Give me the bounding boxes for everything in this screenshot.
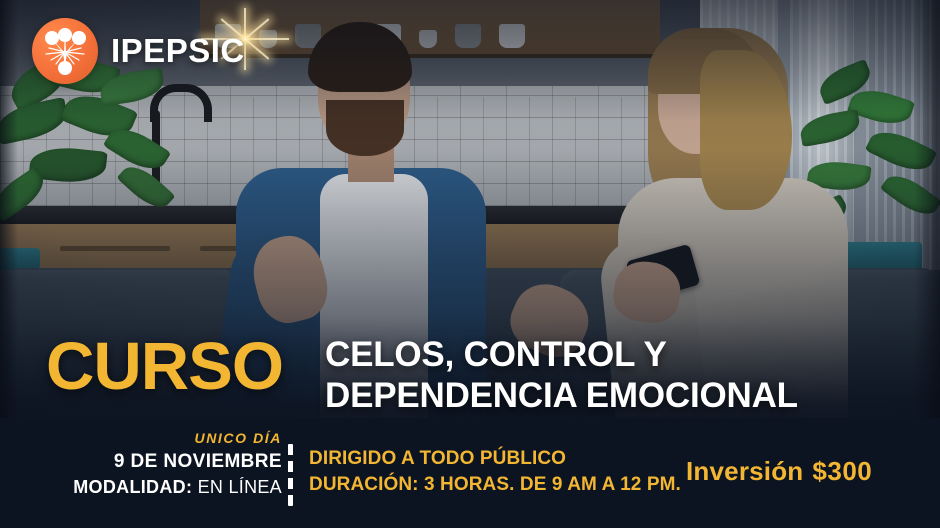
page-title: CELOS, CONTROL Y DEPENDENCIA EMOCIONAL (325, 335, 798, 417)
price-block: Inversión$300 (686, 458, 872, 484)
unique-day-label: UNICO DÍA (0, 430, 282, 448)
title-line-2: DEPENDENCIA EMOCIONAL (325, 376, 798, 417)
price-amount: $300 (812, 456, 872, 486)
modality-label: MODALIDAD: (73, 477, 192, 497)
duration-text: DURACIÓN: 3 HORAS. DE 9 AM A 12 PM. (309, 472, 681, 498)
ipepsic-neuron-icon (32, 18, 98, 84)
modality-value: EN LÍNEA (198, 477, 282, 497)
info-bar: UNICO DÍA 9 DE NOVIEMBRE MODALIDAD: EN L… (0, 418, 940, 528)
title-line-1: CELOS, CONTROL Y (325, 335, 798, 376)
brand-logo[interactable]: IPEPSIC (32, 18, 245, 84)
price-label: Inversión (686, 456, 803, 486)
brand-name: IPEPSIC (111, 32, 245, 70)
audience-text: DIRIGIDO A TODO PÚBLICO (309, 446, 681, 472)
right-vignette (914, 0, 940, 440)
left-vignette (0, 0, 18, 440)
audience-duration-column: DIRIGIDO A TODO PÚBLICO DURACIÓN: 3 HORA… (309, 446, 681, 498)
modality-row: MODALIDAD: EN LÍNEA (0, 475, 282, 500)
dashed-vertical-divider-icon (288, 444, 293, 506)
date-modality-column: UNICO DÍA 9 DE NOVIEMBRE MODALIDAD: EN L… (0, 430, 282, 500)
course-promo-banner: IPEPSIC CURSO CELOS, CONTROL Y DEPENDENC… (0, 0, 940, 528)
course-date: 9 DE NOVIEMBRE (0, 448, 282, 476)
kicker-curso: CURSO (46, 333, 283, 400)
